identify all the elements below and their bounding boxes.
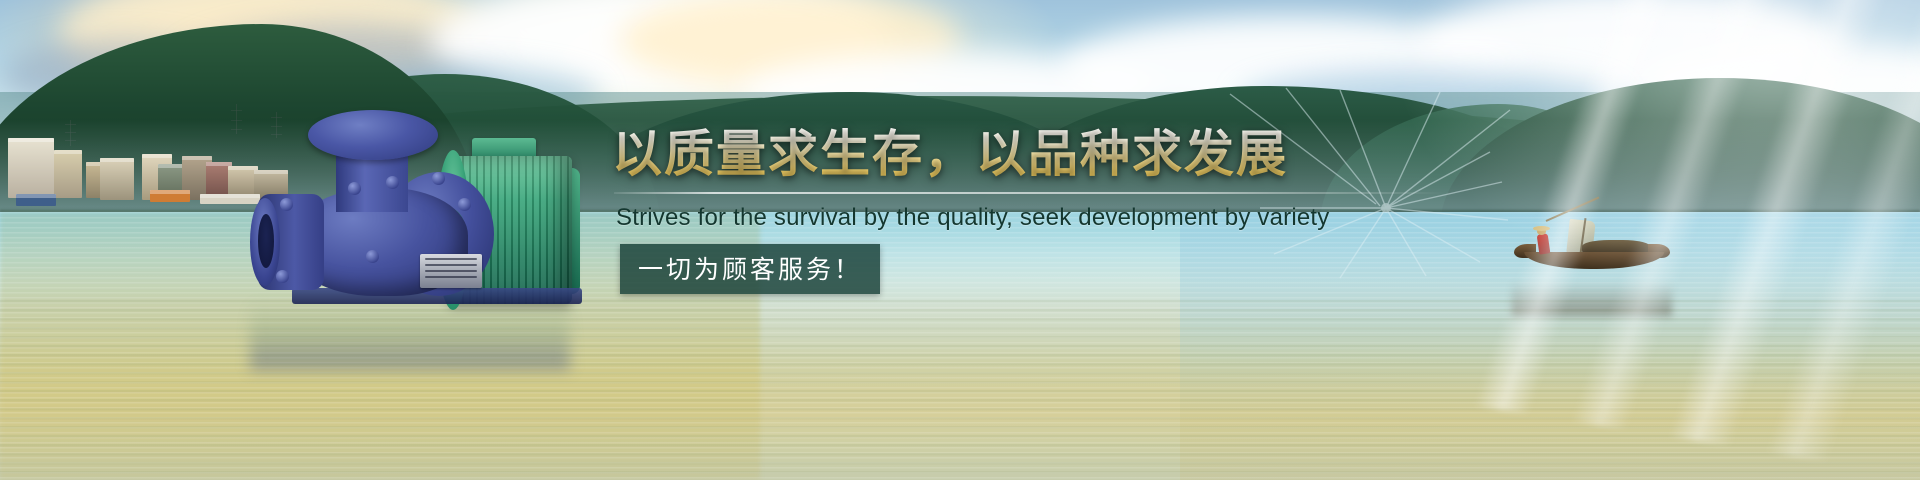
boat-reflection (1512, 282, 1672, 316)
flange-bolt (432, 172, 445, 185)
banner-headline: 以质量求生存，以品种求发展 (612, 126, 1512, 182)
centrifugal-pump-product (236, 102, 576, 302)
headline-divider (614, 192, 1444, 194)
pump-suction-bore (258, 214, 274, 268)
building-roof (16, 194, 56, 206)
pump-discharge-flange (308, 110, 438, 160)
pump-nameplate (420, 254, 482, 288)
fisherman-hat (1533, 226, 1550, 231)
banner-subline: Strives for the survival by the quality,… (616, 204, 1512, 232)
hero-banner: 以质量求生存，以品种求发展 Strives for the survival b… (0, 0, 1920, 480)
fisherman-body (1537, 233, 1551, 254)
flange-bolt (458, 198, 471, 211)
fishing-boat (1508, 218, 1678, 282)
flange-bolt (386, 176, 399, 189)
building (54, 150, 82, 198)
building-roof (150, 190, 190, 202)
banner-text-block: 以质量求生存，以品种求发展 Strives for the survival b… (612, 126, 1512, 294)
flange-bolt (276, 270, 289, 283)
flange-bolt (280, 198, 293, 211)
flange-bolt (366, 250, 379, 263)
building (100, 158, 134, 200)
service-slogan-badge: 一切为顾客服务！ (620, 244, 880, 294)
boat-hull (1524, 252, 1665, 269)
flange-bolt (348, 182, 361, 195)
building (8, 138, 54, 198)
